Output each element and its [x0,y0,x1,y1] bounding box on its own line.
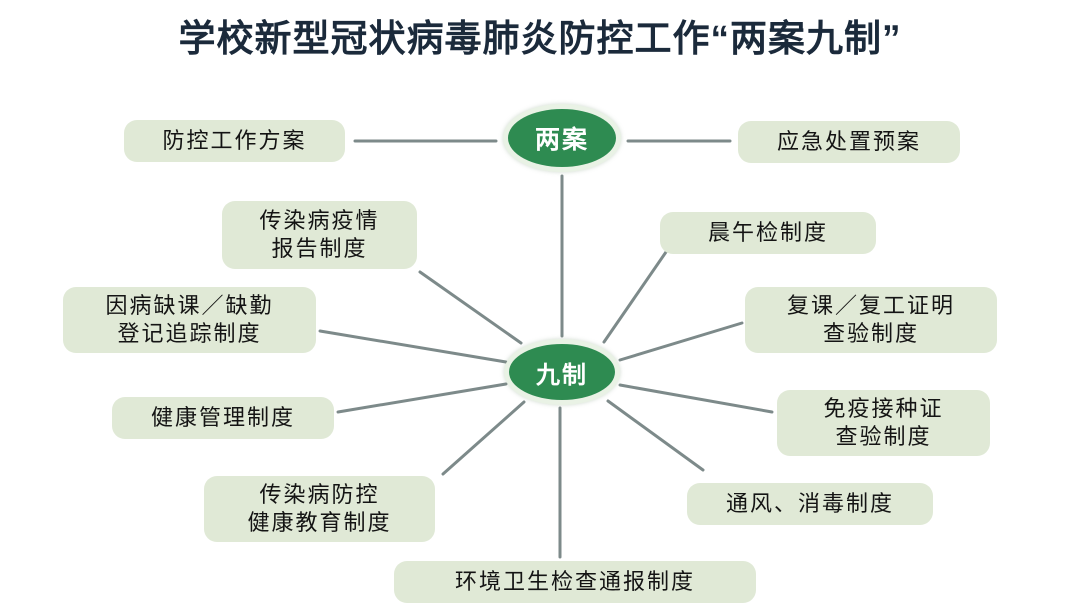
slide-canvas: 学校新型冠状病毒肺炎防控工作“两案九制” 两案 九制 防控工作方案 [0,0,1080,611]
node-chip-chuanranbing-yiqing-baogao[interactable]: 传染病疫情 报告制度 [222,201,417,269]
node-chip-chenwujian[interactable]: 晨午检制度 [660,212,876,254]
node-chip-line: 传染病疫情 [259,207,379,235]
connector-jiuzhi-n9 [608,401,703,470]
node-chip-fuke-fugong-zhengming[interactable]: 复课／复工证明 查验制度 [745,287,997,353]
node-chip-line: 健康教育制度 [247,509,391,537]
node-chip-fangkong-gongzuo-fangan[interactable]: 防控工作方案 [124,120,345,162]
node-chip-line: 查验制度 [823,320,919,348]
node-chip-line: 查验制度 [835,423,931,451]
node-chip-tongfeng-xiaodu[interactable]: 通风、消毒制度 [687,483,933,525]
hub-jiuzhi-label: 九制 [536,355,588,390]
connector-jiuzhi-n2 [420,272,521,343]
node-chip-line: 复课／复工证明 [787,292,955,320]
node-chip-line: 防控工作方案 [162,127,306,155]
connector-jiuzhi-n8 [443,402,524,474]
node-chip-mianyi-jiezhongzheng[interactable]: 免疫接种证 查验制度 [777,390,990,456]
node-chip-line: 健康管理制度 [151,404,295,432]
connector-jiuzhi-n6 [338,384,506,412]
node-chip-line: 应急处置预案 [777,128,921,156]
node-chip-line: 报告制度 [271,235,367,263]
connector-jiuzhi-n5 [620,323,742,360]
node-chip-line: 环境卫生检查通报制度 [455,568,695,596]
hub-jiuzhi[interactable]: 九制 [504,339,620,405]
node-chip-chuanranbing-fangkong-jiaoyu[interactable]: 传染病防控 健康教育制度 [204,476,435,542]
connector-jiuzhi-n4 [320,331,506,362]
node-chip-line: 免疫接种证 [823,395,943,423]
node-chip-huanjing-weisheng-jiancha[interactable]: 环境卫生检查通报制度 [394,561,756,603]
hub-liangan-label: 两案 [535,120,589,156]
node-chip-yinbing-quek-queqin[interactable]: 因病缺课／缺勤 登记追踪制度 [63,287,316,353]
connector-jiuzhi-n7 [620,385,772,412]
node-chip-yingji-chuzhi-yuan[interactable]: 应急处置预案 [738,121,960,163]
node-chip-line: 因病缺课／缺勤 [105,292,273,320]
node-chip-line: 通风、消毒制度 [726,490,894,518]
node-chip-line: 晨午检制度 [708,219,828,247]
hub-liangan[interactable]: 两案 [503,104,621,172]
node-chip-line: 登记追踪制度 [117,320,261,348]
node-chip-jiankang-guanli[interactable]: 健康管理制度 [112,397,334,439]
connector-jiuzhi-n3 [604,252,666,342]
node-chip-line: 传染病防控 [259,481,379,509]
